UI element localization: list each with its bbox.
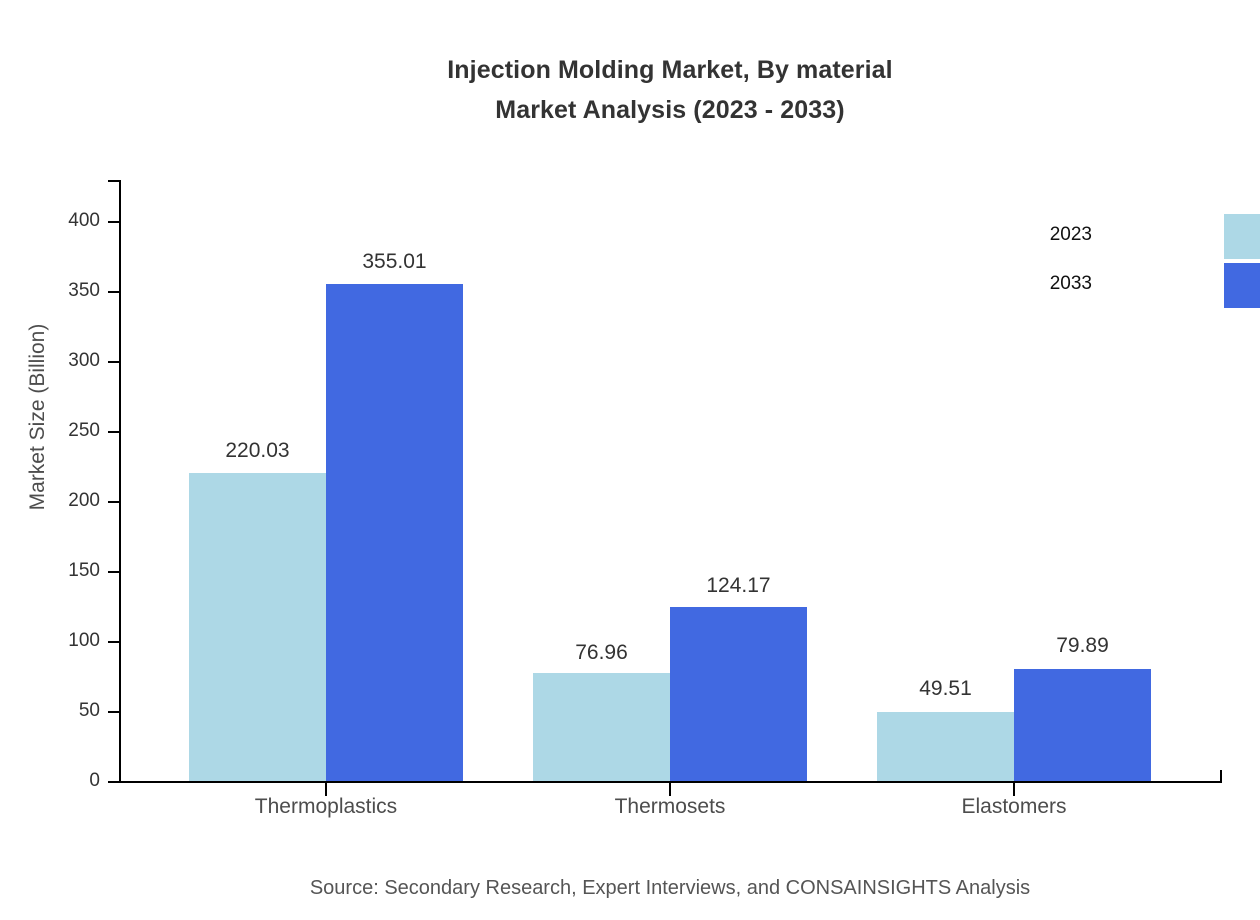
y-tick-8 <box>108 221 121 223</box>
x-tick-label-elastomers: Elastomers <box>854 795 1174 819</box>
bar-label-elastomers-2023: 49.51 <box>865 677 1026 701</box>
chart-figure: Injection Molding Market, By material Ma… <box>0 0 1260 920</box>
source-note: Source: Secondary Research, Expert Inter… <box>0 877 1260 900</box>
bar-elastomers-2023[interactable] <box>877 712 1014 781</box>
chart-title-block: Injection Molding Market, By material Ma… <box>0 50 1260 130</box>
y-tick-5 <box>108 431 121 433</box>
bar-label-thermosets-2023: 76.96 <box>521 641 682 665</box>
y-axis-label: Market Size (Billion) <box>26 267 50 567</box>
y-tick-label-7: 350 <box>8 280 100 302</box>
y-tick-label-6: 300 <box>8 350 100 372</box>
y-tick-label-8: 400 <box>8 210 100 232</box>
y-tick-3 <box>108 571 121 573</box>
y-tick-1 <box>108 711 121 713</box>
y-tick-label-1: 50 <box>8 700 100 722</box>
y-tick-0 <box>108 781 121 783</box>
page-title: Injection Molding Market, By material <box>0 50 1260 90</box>
bar-thermosets-2033[interactable] <box>670 607 807 781</box>
chart-subtitle: Market Analysis (2023 - 2033) <box>0 90 1260 130</box>
x-axis-end-cap <box>1220 770 1222 783</box>
bar-thermoplastics-2023[interactable] <box>189 473 326 781</box>
bar-label-elastomers-2033: 79.89 <box>1002 634 1163 658</box>
y-axis-top-cap <box>108 180 121 182</box>
y-tick-label-3: 150 <box>8 560 100 582</box>
legend-swatch-2023 <box>1224 214 1260 259</box>
legend-swatch-2033 <box>1224 263 1260 308</box>
y-tick-label-2: 100 <box>8 630 100 652</box>
legend-label-2023: 2023 <box>972 224 1092 246</box>
y-tick-4 <box>108 501 121 503</box>
y-tick-6 <box>108 361 121 363</box>
y-tick-2 <box>108 641 121 643</box>
legend-label-2033: 2033 <box>972 273 1092 295</box>
y-tick-7 <box>108 291 121 293</box>
bar-label-thermoplastics-2033: 355.01 <box>314 250 475 274</box>
x-tick-label-thermoplastics: Thermoplastics <box>166 795 486 819</box>
bar-label-thermoplastics-2023: 220.03 <box>177 439 338 463</box>
bar-thermoplastics-2033[interactable] <box>326 284 463 781</box>
bar-label-thermosets-2033: 124.17 <box>658 574 819 598</box>
y-tick-label-0: 0 <box>8 770 100 792</box>
y-axis-spine <box>119 180 121 783</box>
bar-elastomers-2033[interactable] <box>1014 669 1151 781</box>
bar-thermosets-2023[interactable] <box>533 673 670 781</box>
y-tick-label-5: 250 <box>8 420 100 442</box>
y-tick-label-4: 200 <box>8 490 100 512</box>
x-tick-label-thermosets: Thermosets <box>510 795 830 819</box>
